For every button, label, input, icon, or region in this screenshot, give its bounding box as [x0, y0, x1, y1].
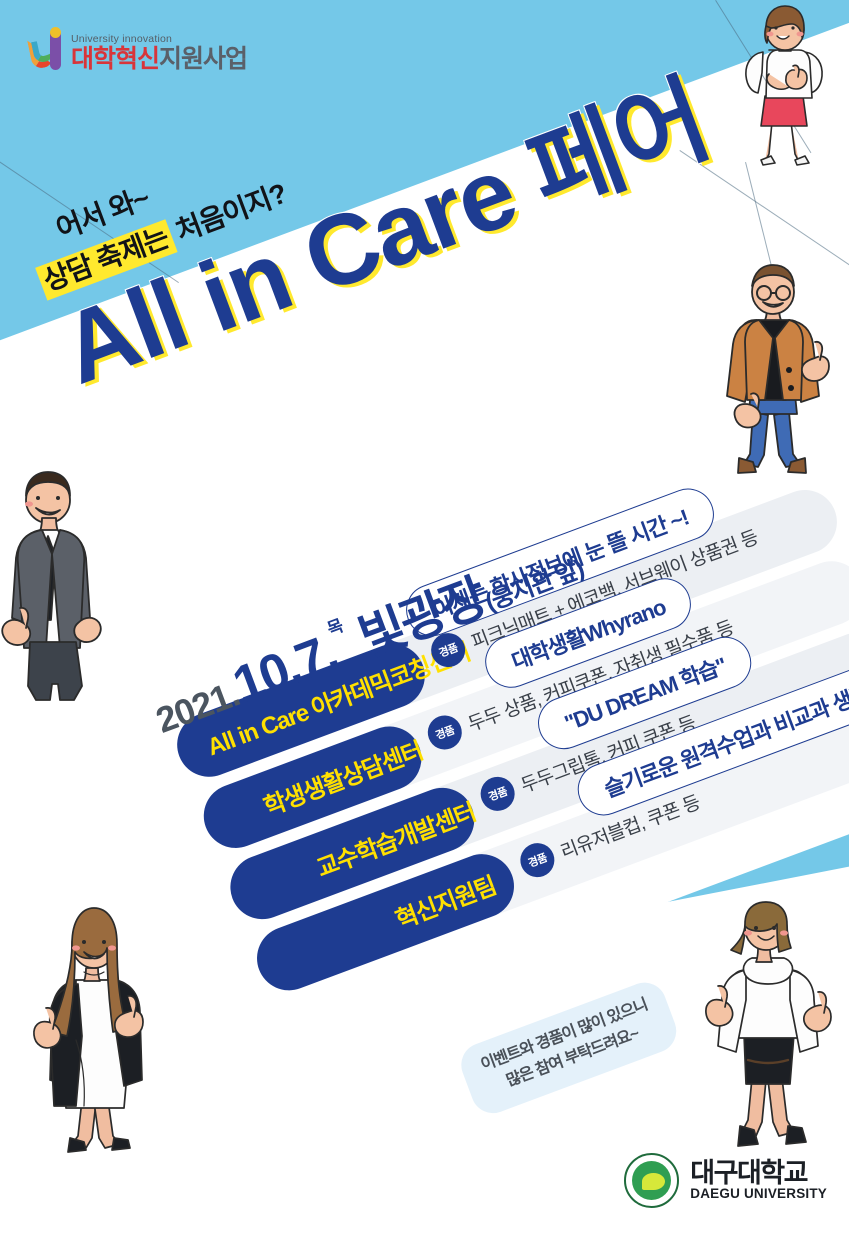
character-man-graysuit-thumbsup — [0, 470, 138, 705]
logo-korean-red: 대학혁신 — [71, 45, 159, 73]
university-innovation-logo: University innovation 대학혁신지원사업 — [30, 27, 247, 72]
logo-english-label: University innovation — [71, 34, 247, 45]
character-man-glasses-tanjacket-thumbsup — [715, 262, 847, 477]
character-woman-whitesweater-blackskirt-thumbsup — [696, 900, 841, 1162]
daegu-university-logo: 대구대학교 DAEGU UNIVERSITY — [624, 1153, 827, 1208]
footer-english-name: DAEGU UNIVERSITY — [690, 1187, 827, 1201]
logo-korean-gray: 지원사업 — [159, 45, 247, 73]
footer-korean-name: 대구대학교 — [690, 1160, 827, 1188]
logo-korean-label: 대학혁신지원사업 — [71, 47, 247, 72]
poster-canvas: University innovation 대학혁신지원사업 — [0, 0, 849, 1234]
daegu-university-emblem-icon — [624, 1153, 679, 1208]
character-woman-longhair-whitedress-thumbsup — [22, 900, 172, 1165]
uj-mark-icon — [30, 27, 64, 72]
character-woman-puffsleeve-thumbsup — [725, 4, 845, 169]
